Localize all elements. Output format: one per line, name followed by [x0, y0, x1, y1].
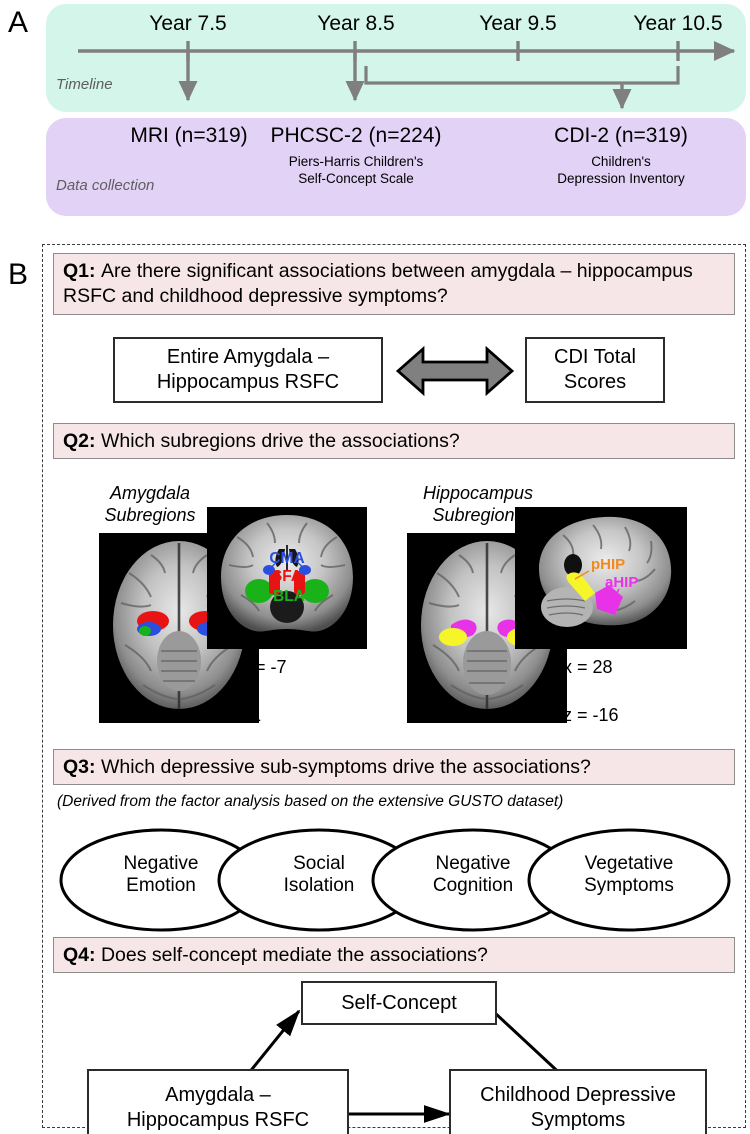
q4-prefix: Q4: [63, 944, 101, 966]
q3-note: (Derived from the factor analysis based … [57, 793, 563, 811]
q1-header: Q1: Are there significant associations b… [53, 253, 735, 315]
q4-mediator-box: Self-Concept [301, 981, 497, 1025]
panel-a-study-timeline: Timeline Data collection Year 7.5 Year 8… [46, 4, 746, 216]
data-collection-band-label: Data collection [56, 177, 154, 194]
q3-text: Which depressive sub-symptoms drive the … [101, 756, 591, 778]
q4-text: Does self-concept mediate the associatio… [101, 944, 488, 966]
amygdala-label-sfa: SFA [272, 568, 302, 585]
q2-text: Which subregions drive the associations? [101, 430, 460, 452]
q1-prefix: Q1: [63, 260, 101, 282]
q4-outcome-box: Childhood Depressive Symptoms [449, 1069, 707, 1134]
timeline-axis-graphic [46, 4, 746, 116]
hippocampus-coord-x: x = 28 [563, 657, 613, 678]
amygdala-coord-z: z = -11 [207, 705, 261, 726]
q3-header: Q3: Which depressive sub-symptoms drive … [53, 749, 735, 785]
q3-factor-ellipses-graphic [53, 827, 737, 933]
panel-label-a: A [8, 6, 28, 40]
amygdala-subregions-title: Amygdala Subregions [85, 483, 215, 527]
amygdala-coord-y: y = -7 [241, 657, 287, 678]
panel-label-b: B [8, 258, 28, 292]
data-collection-title-phcsc: PHCSC-2 (n=224) [251, 124, 461, 148]
hippocampus-label-phip: pHIP [591, 556, 625, 573]
q1-text: Are there significant associations betwe… [63, 260, 693, 307]
q4-header: Q4: Does self-concept mediate the associ… [53, 937, 735, 973]
amygdala-label-bla: BLA [273, 588, 305, 605]
data-collection-subtitle-phcsc: Piers-Harris Children's Self-Concept Sca… [251, 154, 461, 188]
q4-predictor-box: Amygdala – Hippocampus RSFC [87, 1069, 349, 1134]
panel-b-research-questions: Q1: Are there significant associations b… [42, 244, 746, 1128]
hippocampus-label-ahip: aHIP [605, 574, 638, 591]
hippocampus-coord-z: z = -16 [563, 705, 619, 726]
q3-prefix: Q3: [63, 756, 101, 778]
data-collection-title-cdi: CDI-2 (n=319) [516, 124, 726, 148]
q2-prefix: Q2: [63, 430, 101, 452]
amygdala-coronal-slice-image: CMA SFA BLA [207, 507, 367, 649]
q1-double-arrow-icon [395, 343, 515, 399]
amygdala-label-cma: CMA [269, 550, 304, 567]
hippocampus-sagittal-slice-image: pHIP aHIP [515, 507, 687, 649]
q1-left-box: Entire Amygdala – Hippocampus RSFC [113, 337, 383, 403]
q2-header: Q2: Which subregions drive the associati… [53, 423, 735, 459]
q1-right-box: CDI Total Scores [525, 337, 665, 403]
data-collection-subtitle-cdi: Children's Depression Inventory [516, 154, 726, 188]
